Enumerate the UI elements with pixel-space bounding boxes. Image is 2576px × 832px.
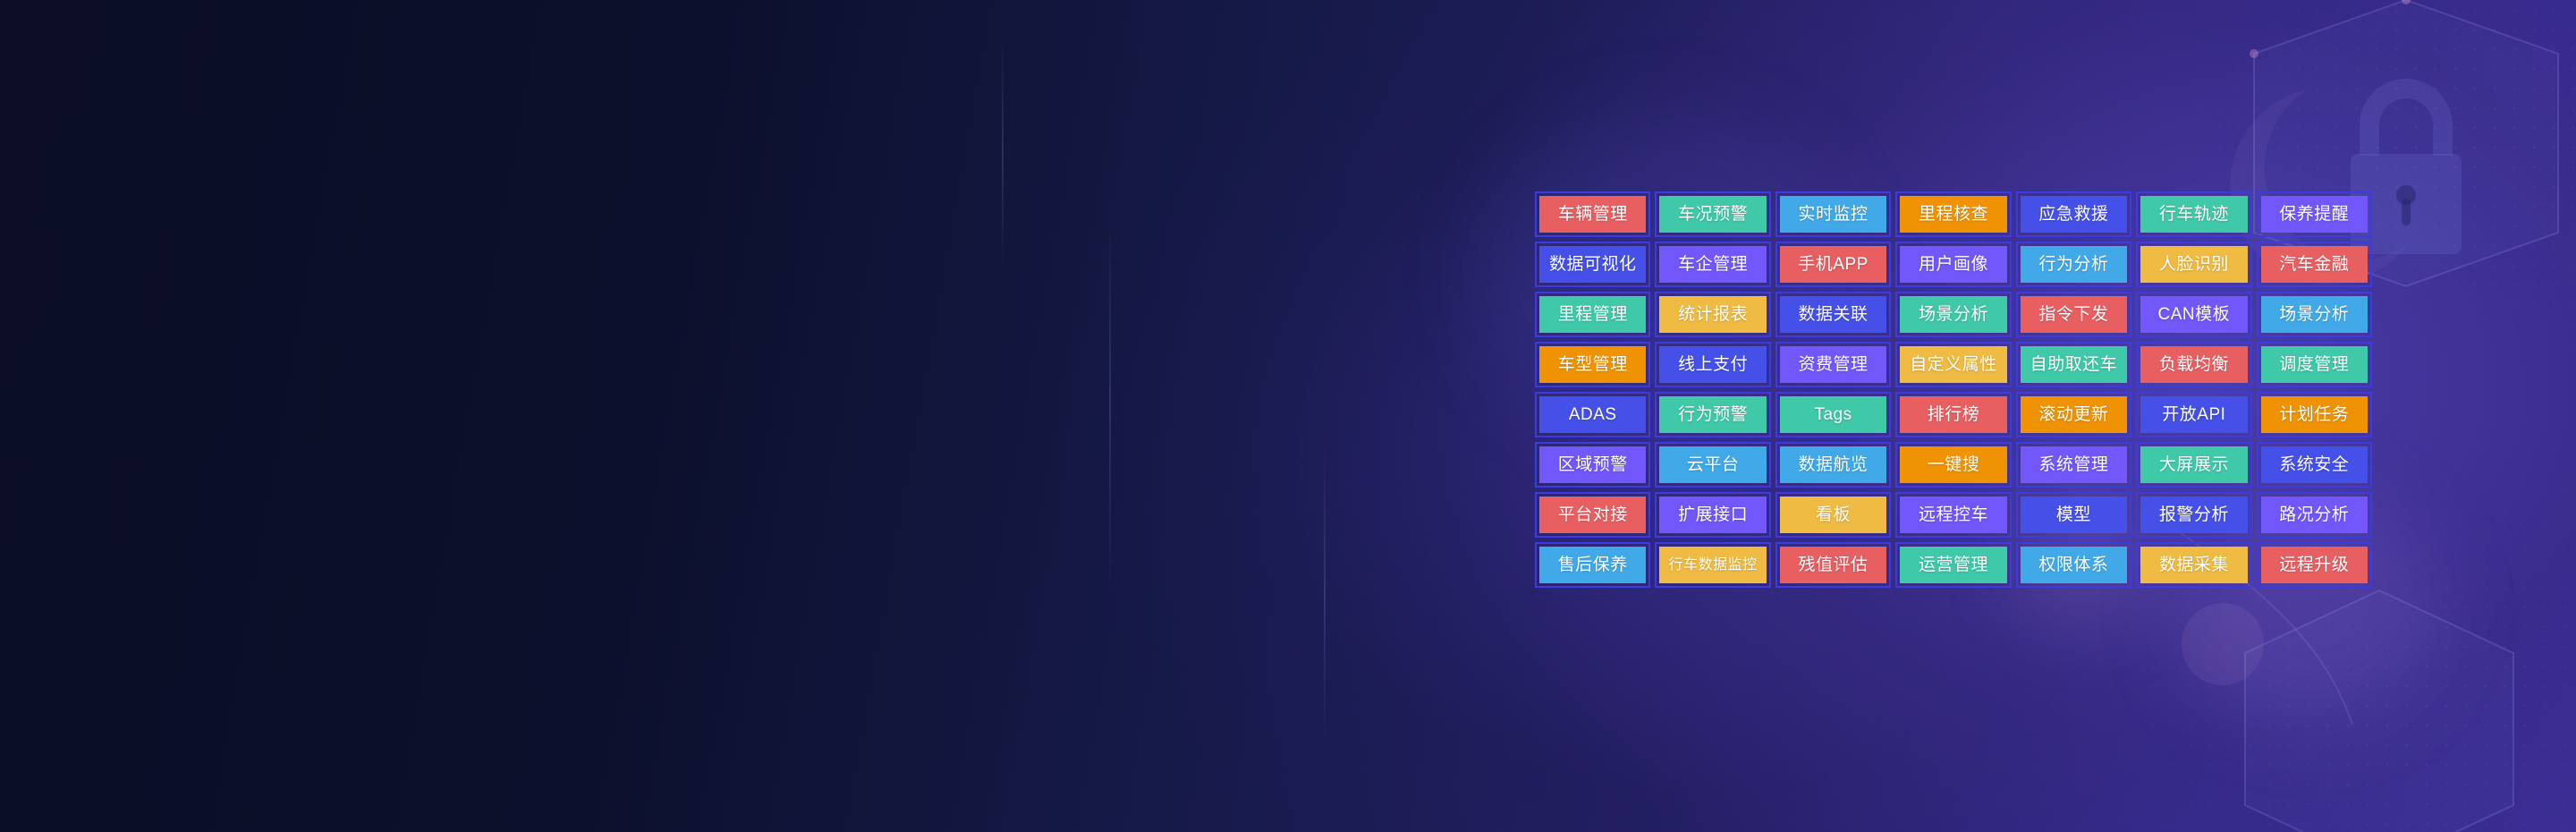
feature-tile-label: 里程核查 bbox=[1900, 196, 2006, 233]
feature-tile[interactable]: 自助取还车 bbox=[2016, 342, 2131, 387]
feature-tile-label: 统计报表 bbox=[1659, 296, 1766, 333]
feature-tile-label: 云平台 bbox=[1659, 446, 1766, 483]
feature-tile-label: 汽车金融 bbox=[2261, 246, 2368, 283]
feature-tile-label: 行车轨迹 bbox=[2140, 196, 2247, 233]
feature-tile-label: 车型管理 bbox=[1539, 346, 1646, 383]
feature-tile[interactable]: 应急救援 bbox=[2016, 191, 2131, 237]
feature-tile[interactable]: 指令下发 bbox=[2016, 292, 2131, 337]
feature-tile-label: 一键搜 bbox=[1900, 446, 2006, 483]
feature-tile-label: 实时监控 bbox=[1780, 196, 1886, 233]
feature-tile[interactable]: 售后保养 bbox=[1535, 542, 1650, 588]
feature-tile[interactable]: 平台对接 bbox=[1535, 492, 1650, 538]
feature-tile[interactable]: 行为分析 bbox=[2016, 242, 2131, 287]
feature-tile[interactable]: 计划任务 bbox=[2257, 392, 2372, 437]
feature-tile[interactable]: 滚动更新 bbox=[2016, 392, 2131, 437]
feature-tile[interactable]: 数据可视化 bbox=[1535, 242, 1650, 287]
feature-tile[interactable]: 扩展接口 bbox=[1655, 492, 1770, 538]
feature-tile-label: 扩展接口 bbox=[1659, 497, 1766, 533]
feature-tile[interactable]: 模型 bbox=[2016, 492, 2131, 538]
feature-tile-label: 大屏展示 bbox=[2140, 446, 2247, 483]
feature-tile[interactable]: 负载均衡 bbox=[2136, 342, 2251, 387]
feature-tile-label: Tags bbox=[1780, 396, 1886, 433]
feature-tile[interactable]: CAN模板 bbox=[2136, 292, 2251, 337]
feature-tile[interactable]: 开放API bbox=[2136, 392, 2251, 437]
feature-tile-label: 调度管理 bbox=[2261, 346, 2368, 383]
feature-tile[interactable]: 汽车金融 bbox=[2257, 242, 2372, 287]
feature-tile-label: 手机APP bbox=[1780, 246, 1886, 283]
feature-tile-label: 保养提醒 bbox=[2261, 196, 2368, 233]
feature-tile[interactable]: 大屏展示 bbox=[2136, 442, 2251, 488]
feature-tile-label: 里程管理 bbox=[1539, 296, 1646, 333]
feature-tile[interactable]: 残值评估 bbox=[1775, 542, 1891, 588]
feature-tile[interactable]: 报警分析 bbox=[2136, 492, 2251, 538]
feature-tile-label: 车况预警 bbox=[1659, 196, 1766, 233]
feature-tile-label: 报警分析 bbox=[2140, 497, 2247, 533]
feature-tile-label: 车辆管理 bbox=[1539, 196, 1646, 233]
feature-tile[interactable]: 系统安全 bbox=[2257, 442, 2372, 488]
feature-tile[interactable]: 车况预警 bbox=[1655, 191, 1770, 237]
feature-tile[interactable]: 人脸识别 bbox=[2136, 242, 2251, 287]
feature-tile-label: 场景分析 bbox=[1900, 296, 2006, 333]
feature-tile[interactable]: 数据采集 bbox=[2136, 542, 2251, 588]
feature-tile-label: 车企管理 bbox=[1659, 246, 1766, 283]
feature-tile[interactable]: 实时监控 bbox=[1775, 191, 1891, 237]
feature-tile-label: 自助取还车 bbox=[2021, 346, 2127, 383]
feature-tile[interactable]: 看板 bbox=[1775, 492, 1891, 538]
feature-tile-label: 滚动更新 bbox=[2021, 396, 2127, 433]
feature-tile-label: 人脸识别 bbox=[2140, 246, 2247, 283]
feature-tile-label: 售后保养 bbox=[1539, 547, 1646, 583]
feature-tile[interactable]: 场景分析 bbox=[1895, 292, 2011, 337]
feature-tile-label: 系统管理 bbox=[2021, 446, 2127, 483]
feature-tile[interactable]: 区域预警 bbox=[1535, 442, 1650, 488]
feature-tile-label: 权限体系 bbox=[2021, 547, 2127, 583]
feature-tile-label: 数据航览 bbox=[1780, 446, 1886, 483]
feature-tile-label: CAN模板 bbox=[2140, 296, 2247, 333]
feature-tile[interactable]: 调度管理 bbox=[2257, 342, 2372, 387]
feature-tile-label: 远程控车 bbox=[1900, 497, 2006, 533]
feature-tile-label: 行为分析 bbox=[2021, 246, 2127, 283]
feature-tile[interactable]: 行车数据监控 bbox=[1655, 542, 1770, 588]
slide-canvas: 车辆管理车况预警实时监控里程核查应急救援行车轨迹保养提醒数据可视化车企管理手机A… bbox=[0, 0, 2576, 832]
feature-tile[interactable]: 车辆管理 bbox=[1535, 191, 1650, 237]
feature-tile[interactable]: 系统管理 bbox=[2016, 442, 2131, 488]
feature-tile-label: 数据采集 bbox=[2140, 547, 2247, 583]
feature-tile[interactable]: 用户画像 bbox=[1895, 242, 2011, 287]
feature-tile[interactable]: 里程核查 bbox=[1895, 191, 2011, 237]
feature-tile[interactable]: 排行榜 bbox=[1895, 392, 2011, 437]
light-streak bbox=[1324, 447, 1326, 743]
feature-tile[interactable]: Tags bbox=[1775, 392, 1891, 437]
feature-tile-label: 远程升级 bbox=[2261, 547, 2368, 583]
feature-tile-label: 模型 bbox=[2021, 497, 2127, 533]
light-streak bbox=[1002, 36, 1004, 268]
feature-tile[interactable]: 自定义属性 bbox=[1895, 342, 2011, 387]
feature-tile-label: 排行榜 bbox=[1900, 396, 2006, 433]
feature-tile[interactable]: 行为预警 bbox=[1655, 392, 1770, 437]
feature-tile-grid: 车辆管理车况预警实时监控里程核查应急救援行车轨迹保养提醒数据可视化车企管理手机A… bbox=[1535, 191, 2372, 588]
feature-tile-label: 用户画像 bbox=[1900, 246, 2006, 283]
feature-tile[interactable]: 保养提醒 bbox=[2257, 191, 2372, 237]
feature-tile-label: 数据可视化 bbox=[1539, 246, 1646, 283]
feature-tile-label: 负载均衡 bbox=[2140, 346, 2247, 383]
feature-tile[interactable]: 线上支付 bbox=[1655, 342, 1770, 387]
feature-tile-label: ADAS bbox=[1539, 396, 1646, 433]
feature-tile-label: 残值评估 bbox=[1780, 547, 1886, 583]
feature-tile-label: 场景分析 bbox=[2261, 296, 2368, 333]
feature-tile[interactable]: 路况分析 bbox=[2257, 492, 2372, 538]
feature-tile[interactable]: 权限体系 bbox=[2016, 542, 2131, 588]
feature-tile[interactable]: 数据关联 bbox=[1775, 292, 1891, 337]
feature-tile[interactable]: 远程升级 bbox=[2257, 542, 2372, 588]
feature-tile-label: 运营管理 bbox=[1900, 547, 2006, 583]
feature-tile-label: 看板 bbox=[1780, 497, 1886, 533]
feature-tile[interactable]: 远程控车 bbox=[1895, 492, 2011, 538]
feature-tile-label: 数据关联 bbox=[1780, 296, 1886, 333]
feature-tile[interactable]: 资费管理 bbox=[1775, 342, 1891, 387]
feature-tile[interactable]: 场景分析 bbox=[2257, 292, 2372, 337]
feature-tile[interactable]: ADAS bbox=[1535, 392, 1650, 437]
feature-tile-label: 区域预警 bbox=[1539, 446, 1646, 483]
feature-tile-label: 指令下发 bbox=[2021, 296, 2127, 333]
feature-tile-label: 计划任务 bbox=[2261, 396, 2368, 433]
feature-tile[interactable]: 数据航览 bbox=[1775, 442, 1891, 488]
feature-tile[interactable]: 运营管理 bbox=[1895, 542, 2011, 588]
feature-tile-label: 平台对接 bbox=[1539, 497, 1646, 533]
feature-tile[interactable]: 一键搜 bbox=[1895, 442, 2011, 488]
feature-tile-label: 资费管理 bbox=[1780, 346, 1886, 383]
feature-tile[interactable]: 车企管理 bbox=[1655, 242, 1770, 287]
feature-tile[interactable]: 里程管理 bbox=[1535, 292, 1650, 337]
feature-tile-label: 系统安全 bbox=[2261, 446, 2368, 483]
feature-tile-label: 应急救援 bbox=[2021, 196, 2127, 233]
feature-tile-label: 行为预警 bbox=[1659, 396, 1766, 433]
feature-tile[interactable]: 车型管理 bbox=[1535, 342, 1650, 387]
feature-tile-label: 路况分析 bbox=[2261, 497, 2368, 533]
feature-tile-label: 开放API bbox=[2140, 396, 2247, 433]
feature-tile[interactable]: 行车轨迹 bbox=[2136, 191, 2251, 237]
feature-tile[interactable]: 手机APP bbox=[1775, 242, 1891, 287]
feature-tile-label: 行车数据监控 bbox=[1659, 547, 1766, 583]
feature-tile-label: 自定义属性 bbox=[1900, 346, 2006, 383]
feature-tile[interactable]: 云平台 bbox=[1655, 442, 1770, 488]
feature-tile[interactable]: 统计报表 bbox=[1655, 292, 1770, 337]
light-streak bbox=[1109, 215, 1111, 590]
feature-tile-label: 线上支付 bbox=[1659, 346, 1766, 383]
